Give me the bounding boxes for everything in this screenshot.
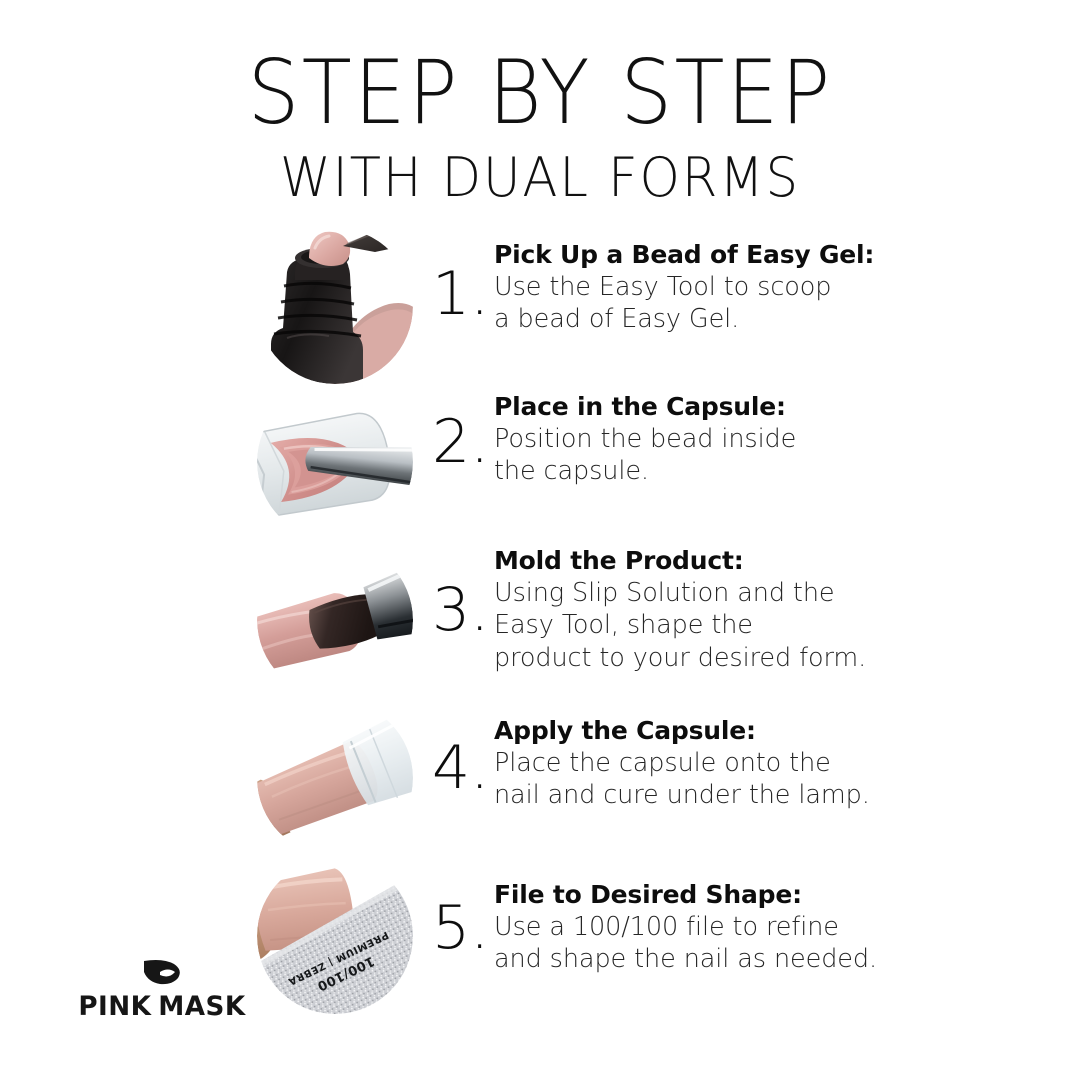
step-body-line: Using Slip Solution and the (494, 577, 934, 610)
capsule-with-bead-photo (257, 384, 413, 540)
step-title: Place in the Capsule: (494, 392, 934, 423)
step-title: Mold the Product: (494, 546, 934, 577)
step-number: 4. (432, 738, 490, 798)
step-title: File to Desired Shape: (494, 880, 934, 911)
step-number: 5. (432, 898, 490, 958)
step-body-line: Easy Tool, shape the (494, 609, 934, 642)
brand-logo: PINKMASK (72, 958, 252, 1022)
step-body: Position the bead inside the capsule. (494, 423, 934, 488)
page-subtitle: WITH DUAL FORMS (27, 138, 1053, 207)
capsule-applied-to-nail-photo (257, 700, 413, 856)
page-title: STEP BY STEP (38, 0, 1042, 138)
step-body-line: Place the capsule onto the (494, 747, 934, 780)
step-body: Using Slip Solution and the Easy Tool, s… (494, 577, 934, 675)
step-body-line: the capsule. (494, 455, 934, 488)
step-title: Apply the Capsule: (494, 716, 934, 747)
brand-wordmark: PINKMASK (75, 991, 250, 1022)
step-body-line: nail and cure under the lamp. (494, 779, 934, 812)
step-body: Place the capsule onto the nail and cure… (494, 747, 934, 812)
step-number: 2. (432, 412, 490, 472)
steps-list: 1. Pick Up a Bead of Easy Gel: Use the E… (0, 228, 1080, 1028)
step-text: Mold the Product: Using Slip Solution an… (494, 546, 934, 674)
list-item: 2. Place in the Capsule: Position the be… (0, 388, 1080, 548)
filing-nail-photo: 100/100 PREMIUM | ZEBRA (257, 858, 413, 1014)
step-text: Apply the Capsule: Place the capsule ont… (494, 716, 934, 812)
step-body-line: product to your desired form. (494, 642, 934, 675)
step-number: 3. (432, 580, 490, 640)
brand-word-pink: PINK (78, 991, 151, 1022)
poster-canvas: STEP BY STEP WITH DUAL FORMS (0, 0, 1080, 1080)
step-body-line: and shape the nail as needed. (494, 943, 934, 976)
molding-with-brush-photo (257, 542, 413, 698)
step-body-line: Use the Easy Tool to scoop (494, 271, 934, 304)
poster-header: STEP BY STEP WITH DUAL FORMS (0, 0, 1080, 206)
step-text: Place in the Capsule: Position the bead … (494, 392, 934, 488)
step-text: Pick Up a Bead of Easy Gel: Use the Easy… (494, 240, 934, 336)
step-body: Use a 100/100 file to refine and shape t… (494, 911, 934, 976)
list-item: 4. Apply the Capsule: Place the capsule … (0, 708, 1080, 868)
leaf-mask-icon (141, 958, 183, 986)
step-text: File to Desired Shape: Use a 100/100 fil… (494, 880, 934, 976)
step-body: Use the Easy Tool to scoop a bead of Eas… (494, 271, 934, 336)
step-body-line: a bead of Easy Gel. (494, 303, 934, 336)
gel-bottle-with-bead-photo (257, 228, 413, 384)
brand-word-mask: MASK (158, 991, 245, 1022)
step-body-line: Use a 100/100 file to refine (494, 911, 934, 944)
step-body-line: Position the bead inside (494, 423, 934, 456)
step-number: 1. (432, 264, 490, 324)
list-item: 1. Pick Up a Bead of Easy Gel: Use the E… (0, 228, 1080, 388)
step-title: Pick Up a Bead of Easy Gel: (494, 240, 934, 271)
list-item: 3. Mold the Product: Using Slip Solution… (0, 548, 1080, 708)
